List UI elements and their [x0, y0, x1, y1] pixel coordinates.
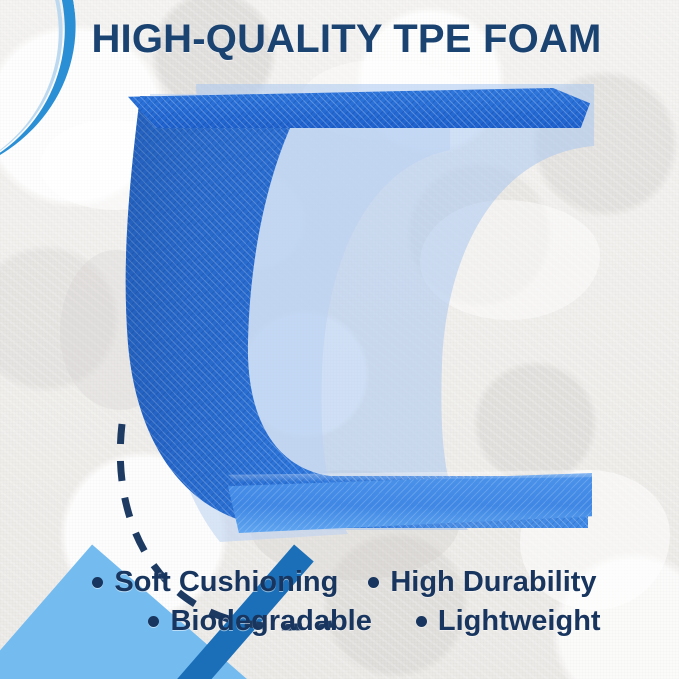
feature-row-2: Biodegradable Lightweight	[0, 605, 679, 638]
product-infographic: HIGH-QUALITY TPE FOAM Soft Cushioning Hi…	[0, 0, 679, 679]
feature-item-soft-cushioning: Soft Cushioning	[92, 566, 338, 599]
feature-label: Lightweight	[438, 605, 601, 638]
bullet-dot-icon	[92, 577, 103, 588]
feature-list: Soft Cushioning High Durability Biodegra…	[0, 566, 679, 638]
feature-item-high-durability: High Durability	[368, 566, 596, 599]
page-title: HIGH-QUALITY TPE FOAM	[0, 17, 679, 62]
feature-label: Biodegradable	[170, 605, 371, 638]
feature-item-lightweight: Lightweight	[416, 605, 601, 638]
bullet-dot-icon	[368, 577, 379, 588]
foam-mat-illustration	[0, 78, 679, 548]
bullet-dot-icon	[148, 616, 159, 627]
feature-item-biodegradable: Biodegradable	[148, 605, 371, 638]
bullet-dot-icon	[416, 616, 427, 627]
feature-label: Soft Cushioning	[114, 566, 338, 599]
feature-row-1: Soft Cushioning High Durability	[0, 566, 679, 599]
feature-label: High Durability	[390, 566, 596, 599]
